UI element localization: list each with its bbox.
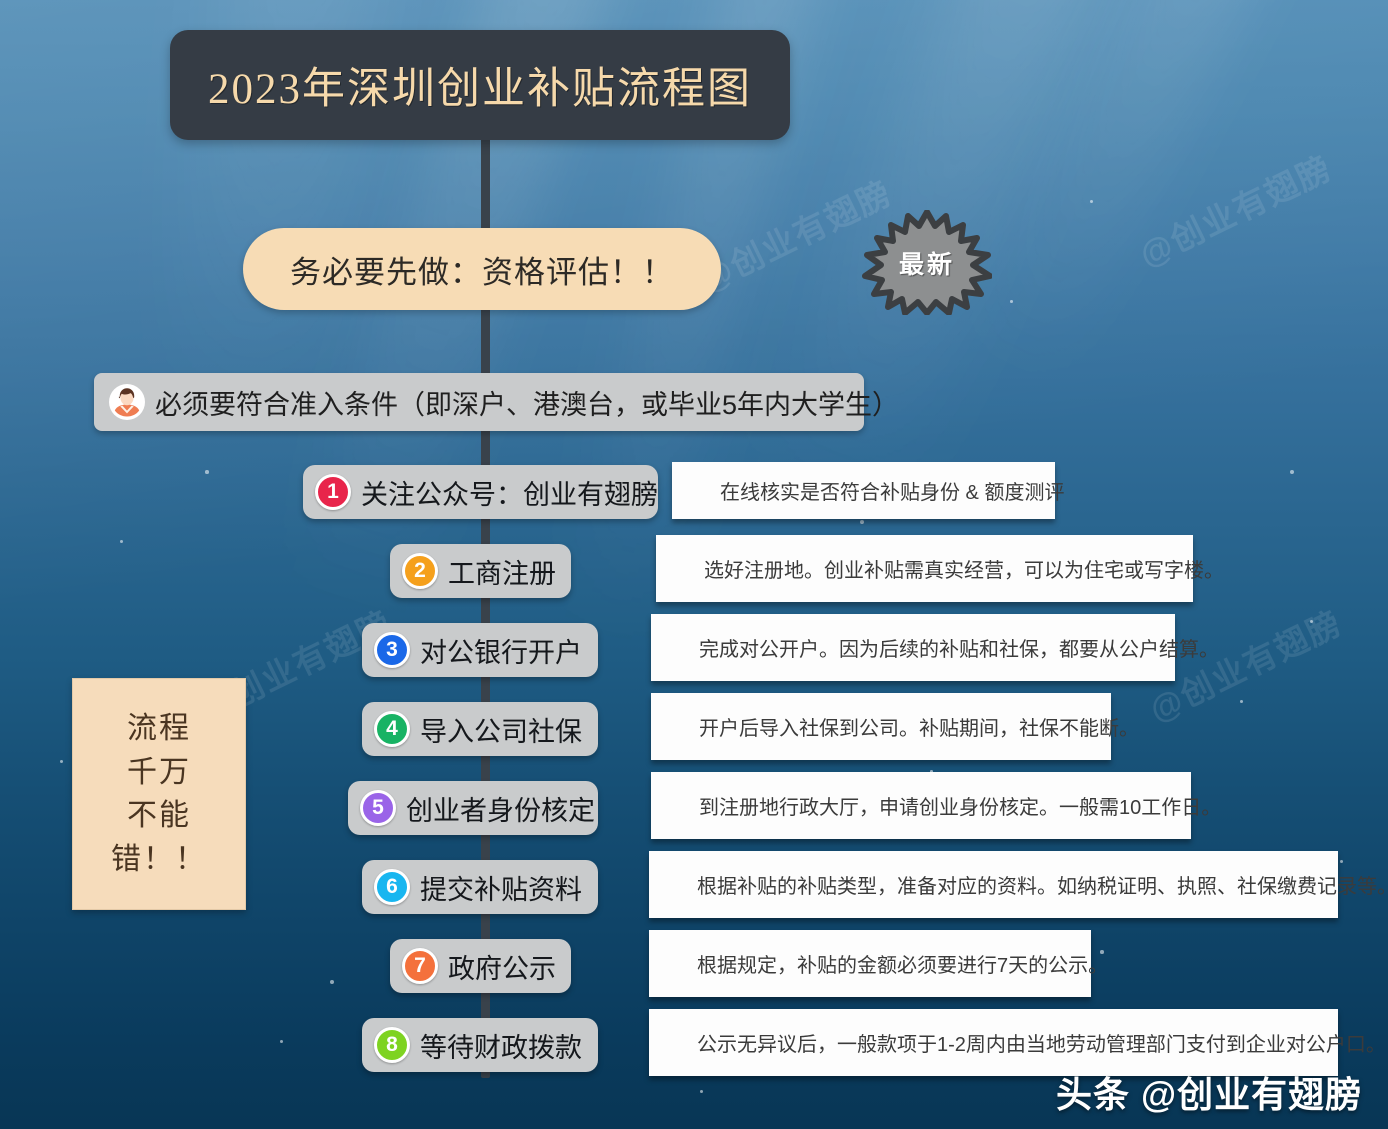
step-number-badge: 6 [374, 869, 410, 905]
step-description-text: 在线核实是否符合补贴身份 & 额度测评 [720, 476, 1064, 505]
step-label: 创业者身份核定 [406, 789, 595, 828]
flowchart-canvas: @创业有翅膀 @创业有翅膀 @创业有翅膀 @创业有翅膀 2023年深圳创业补贴流… [0, 0, 1388, 1129]
step-description-text: 根据补贴的补贴类型，准备对应的资料。如纳税证明、执照、社保缴费记录等。 [697, 870, 1388, 899]
side-note-line: 流程 [127, 707, 191, 751]
side-note-line: 错！！ [111, 838, 207, 882]
prerequisite-label: 必须要符合准入条件（即深户、港澳台，或毕业5年内大学生） [155, 383, 899, 422]
step-description-text: 根据规定，补贴的金额必须要进行7天的公示。 [697, 949, 1108, 978]
step-description-7: 根据规定，补贴的金额必须要进行7天的公示。 [649, 930, 1091, 997]
female-avatar-icon [108, 383, 146, 421]
starburst-label: 最新 [862, 210, 992, 315]
step-description-text: 公示无异议后，一般款项于1-2周内由当地劳动管理部门支付到企业对公户口。 [697, 1028, 1386, 1057]
side-note-line: 千万 [127, 751, 191, 795]
step-number-badge: 8 [374, 1027, 410, 1063]
step-description-4: 开户后导入社保到公司。补贴期间，社保不能断。 [651, 693, 1111, 760]
page-title: 2023年深圳创业补贴流程图 [208, 54, 752, 116]
account-watermark: 头条 @创业有翅膀 [1056, 1066, 1362, 1118]
step-box-6[interactable]: 6提交补贴资料 [362, 860, 598, 914]
step-label: 工商注册 [448, 552, 556, 591]
step-box-8[interactable]: 8等待财政拨款 [362, 1018, 598, 1072]
side-note-card: 流程 千万 不能 错！！ [72, 678, 246, 910]
must-do-first-label: 务必要先做：资格评估！！ [290, 247, 674, 292]
background-watermark: @创业有翅膀 [1130, 142, 1339, 277]
step-box-1[interactable]: 1关注公众号：创业有翅膀 [303, 465, 658, 519]
prerequisite-bar: 必须要符合准入条件（即深户、港澳台，或毕业5年内大学生） [94, 373, 864, 431]
step-number-badge: 5 [360, 790, 396, 826]
step-description-3: 完成对公开户。因为后续的补贴和社保，都要从公户结算。 [651, 614, 1175, 681]
step-description-text: 开户后导入社保到公司。补贴期间，社保不能断。 [699, 712, 1139, 741]
step-label: 政府公示 [448, 947, 556, 986]
step-description-1: 在线核实是否符合补贴身份 & 额度测评 [672, 462, 1055, 519]
step-description-5: 到注册地行政大厅，申请创业身份核定。一般需10工作日。 [651, 772, 1191, 839]
step-label: 对公银行开户 [420, 631, 582, 670]
side-note-line: 不能 [127, 794, 191, 838]
must-do-first-callout: 务必要先做：资格评估！！ [243, 228, 721, 310]
starburst-badge: 最新 [862, 210, 992, 315]
step-box-7[interactable]: 7政府公示 [390, 939, 571, 993]
step-label: 关注公众号：创业有翅膀 [361, 473, 658, 512]
step-box-5[interactable]: 5创业者身份核定 [348, 781, 598, 835]
step-number-badge: 7 [402, 948, 438, 984]
step-number-badge: 1 [315, 474, 351, 510]
step-box-4[interactable]: 4导入公司社保 [362, 702, 598, 756]
step-label: 导入公司社保 [420, 710, 582, 749]
step-box-2[interactable]: 2工商注册 [390, 544, 571, 598]
step-number-badge: 4 [374, 711, 410, 747]
light-ray-decoration [950, 0, 1294, 407]
step-label: 提交补贴资料 [420, 868, 582, 907]
step-number-badge: 3 [374, 632, 410, 668]
step-description-text: 到注册地行政大厅，申请创业身份核定。一般需10工作日。 [699, 791, 1221, 820]
step-number-badge: 2 [402, 553, 438, 589]
step-description-6: 根据补贴的补贴类型，准备对应的资料。如纳税证明、执照、社保缴费记录等。 [649, 851, 1338, 918]
step-box-3[interactable]: 3对公银行开户 [362, 623, 598, 677]
step-label: 等待财政拨款 [420, 1026, 582, 1065]
step-description-text: 完成对公开户。因为后续的补贴和社保，都要从公户结算。 [699, 633, 1219, 662]
step-description-2: 选好注册地。创业补贴需真实经营，可以为住宅或写字楼。 [656, 535, 1193, 602]
step-description-text: 选好注册地。创业补贴需真实经营，可以为住宅或写字楼。 [704, 554, 1224, 583]
chart-title-box: 2023年深圳创业补贴流程图 [170, 30, 790, 140]
